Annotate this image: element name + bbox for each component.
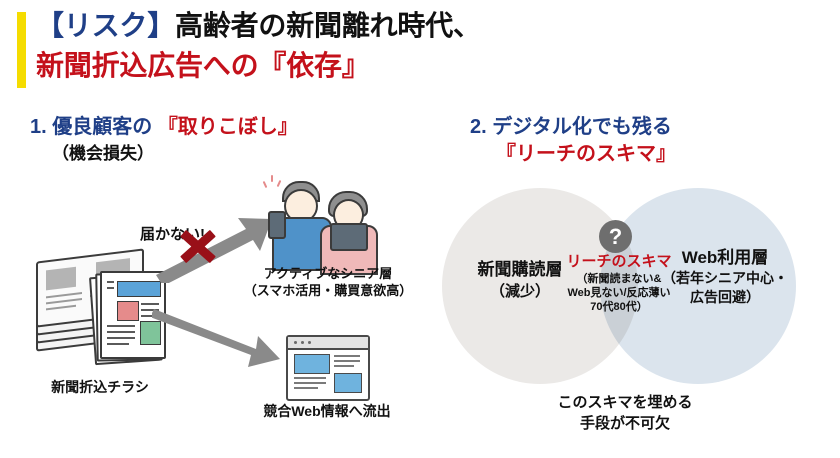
senior-caption: アクティブなシニア層 （スマホ活用・購買意欲高） xyxy=(238,265,418,299)
section-2-venn-diagram: 新聞購読層 （減少） Web利用層 （若年シニア中心・ 広告回避） ? リーチの… xyxy=(432,180,840,450)
section-2-heading-line-1: 2. デジタル化でも残る xyxy=(470,114,676,141)
section-1-heading: 1. 優良顧客の 『取りこぼし』 （機会損失） xyxy=(30,114,298,166)
section-1-diagram: 新聞折込チラシ 届かない! xyxy=(0,165,440,445)
section-2-heading-line-2: 『リーチのスキマ』 xyxy=(470,141,676,168)
senior-caption-line-1: アクティブなシニア層 xyxy=(238,265,418,282)
venn-center-sub-line-1: （新聞読まない& xyxy=(566,272,672,286)
venn-right-title: Web利用層 xyxy=(650,246,800,269)
arrow-to-web xyxy=(152,303,282,373)
section-1-number: 1. xyxy=(30,116,47,138)
section-2-heading: 2. デジタル化でも残る 『リーチのスキマ』 xyxy=(470,114,676,168)
title-line-1: 【リスク】高齢者の新聞離れ時代、 xyxy=(36,6,826,46)
venn-right-sub-line-2: 広告回避） xyxy=(650,288,800,307)
title-accent-bar xyxy=(17,12,26,88)
venn-footer-line-1: このスキマを埋める xyxy=(510,392,740,413)
venn-right-label: Web利用層 （若年シニア中心・ 広告回避） xyxy=(650,246,800,307)
question-mark-icon: ? xyxy=(599,220,632,253)
section-1-heading-sub: （機会損失） xyxy=(30,141,298,166)
section-2-number: 2. xyxy=(470,116,487,138)
web-caption: 競合Web情報へ流出 xyxy=(252,401,402,421)
active-seniors-illustration xyxy=(262,173,387,268)
senior-woman xyxy=(318,191,380,269)
venn-center-label: リーチのスキマ （新聞読まない& Web見ない/反応薄い 70代80代） xyxy=(566,252,672,314)
section-2-heading-text: デジタル化でも残る xyxy=(492,116,672,138)
newspaper-stack-illustration xyxy=(36,245,166,363)
flyer-banner xyxy=(117,281,161,297)
section-1-heading-emph: 『取りこぼし』 xyxy=(158,116,298,138)
title-line-1-rest: 高齢者の新聞離れ時代、 xyxy=(175,10,481,41)
newspaper-caption: 新聞折込チラシ xyxy=(20,377,180,397)
senior-caption-line-2: （スマホ活用・購買意欲高） xyxy=(238,282,418,299)
venn-right-sub-line-1: （若年シニア中心・ xyxy=(650,269,800,288)
venn-footer-note: このスキマを埋める 手段が不可欠 xyxy=(510,392,740,434)
section-1-heading-main: 優良顧客の xyxy=(52,116,152,138)
tablet-icon xyxy=(330,223,368,251)
venn-center-sub-line-3: 70代80代） xyxy=(566,300,672,314)
venn-center-title: リーチのスキマ xyxy=(566,252,672,272)
slide-canvas: 【リスク】高齢者の新聞離れ時代、 新聞折込広告への『依存』 1. 優良顧客の 『… xyxy=(0,0,840,458)
title-bracket-text: 【リスク】 xyxy=(36,10,175,41)
browser-titlebar xyxy=(288,337,368,350)
slide-title: 【リスク】高齢者の新聞離れ時代、 新聞折込広告への『依存』 xyxy=(36,6,826,86)
smartphone-icon xyxy=(268,211,286,239)
venn-center-sub-line-2: Web見ない/反応薄い xyxy=(566,286,672,300)
title-line-2: 新聞折込広告への『依存』 xyxy=(36,46,826,86)
competitor-web-illustration xyxy=(286,335,370,401)
section-1-heading-line-1: 1. 優良顧客の 『取りこぼし』 xyxy=(30,114,298,141)
cross-icon xyxy=(178,225,218,265)
venn-footer-line-2: 手段が不可欠 xyxy=(510,413,740,434)
flyer-photo-red xyxy=(117,301,139,321)
